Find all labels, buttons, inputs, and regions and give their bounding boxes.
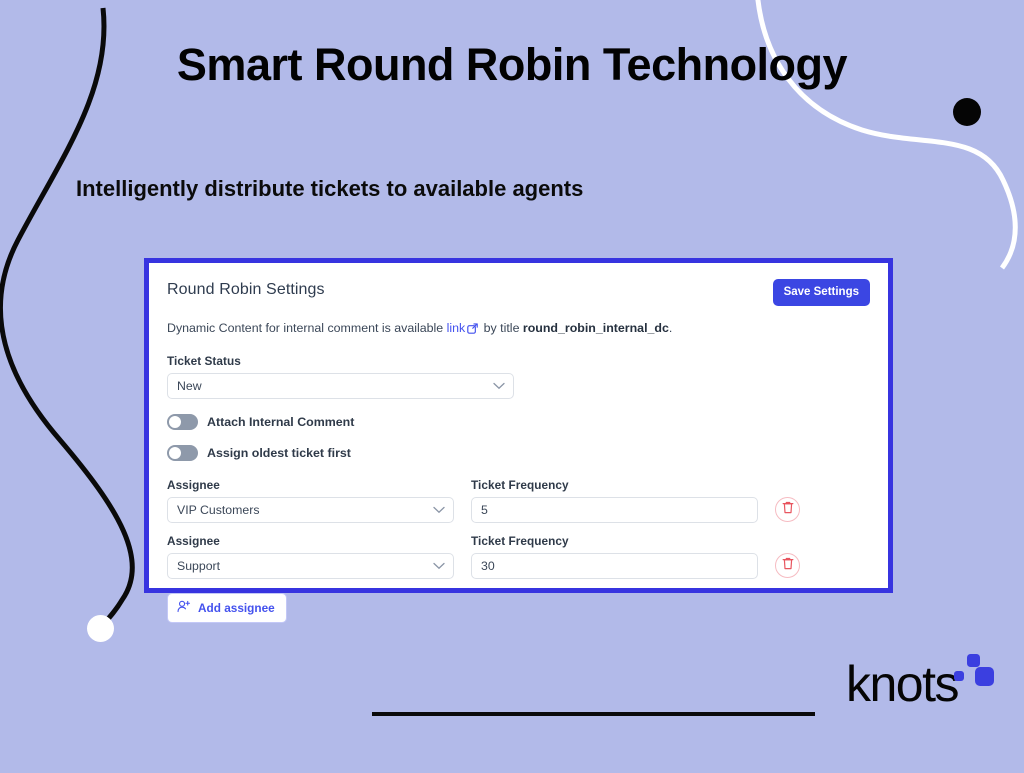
page-subtitle: Intelligently distribute tickets to avai… — [76, 170, 596, 207]
ticket-frequency-label: Ticket Frequency — [471, 478, 758, 492]
horizontal-rule — [372, 712, 815, 716]
page-title: Smart Round Robin Technology — [0, 32, 1024, 97]
toggle-assign-oldest-ticket-first[interactable]: Assign oldest ticket first — [167, 445, 870, 461]
dynamic-content-name: round_robin_internal_dc — [523, 321, 669, 335]
ticket-frequency-label: Ticket Frequency — [471, 534, 758, 548]
ticket-status-value: New — [177, 379, 202, 393]
assignee-label: Assignee — [167, 478, 454, 492]
logo-squares-mark — [954, 654, 996, 699]
dynamic-content-text-before: Dynamic Content for internal comment is … — [167, 321, 447, 335]
assignee-list: Assignee VIP Customers Ticket Frequency … — [167, 478, 870, 579]
dynamic-content-link[interactable]: link — [447, 321, 466, 335]
toggle-attach-internal-comment[interactable]: Attach Internal Comment — [167, 414, 870, 430]
toggle-knob — [169, 447, 181, 459]
round-robin-settings-card: Round Robin Settings Save Settings Dynam… — [144, 258, 893, 593]
toggle-knob — [169, 416, 181, 428]
ticket-frequency-value: 5 — [481, 503, 488, 517]
ticket-status-label: Ticket Status — [167, 354, 514, 368]
logo-wordmark: knots — [846, 659, 958, 709]
knots-logo: knots — [846, 655, 996, 710]
ticket-frequency-value: 30 — [481, 559, 495, 573]
card-title: Round Robin Settings — [167, 279, 325, 299]
toggle-switch-off[interactable] — [167, 414, 198, 430]
dynamic-content-text-after: . — [669, 321, 672, 335]
trash-icon — [782, 557, 794, 575]
toggle-label: Assign oldest ticket first — [207, 446, 351, 460]
delete-assignee-button[interactable] — [775, 497, 800, 522]
assignee-select[interactable]: Support — [167, 553, 454, 579]
add-assignee-label: Add assignee — [198, 601, 275, 615]
dynamic-content-text-middle: by title — [480, 321, 523, 335]
ticket-frequency-input[interactable]: 30 — [471, 553, 758, 579]
ticket-frequency-input[interactable]: 5 — [471, 497, 758, 523]
user-plus-icon — [177, 600, 191, 616]
toggle-label: Attach Internal Comment — [207, 415, 354, 429]
assignee-row: Assignee VIP Customers Ticket Frequency … — [167, 478, 870, 523]
dynamic-content-note: Dynamic Content for internal comment is … — [167, 320, 870, 338]
trash-icon — [782, 501, 794, 519]
save-settings-button[interactable]: Save Settings — [773, 279, 870, 306]
ticket-status-select[interactable]: New — [167, 373, 514, 399]
white-dot-accent — [87, 615, 114, 642]
card-header: Round Robin Settings Save Settings — [167, 279, 870, 306]
assignee-row: Assignee Support Ticket Frequency 30 — [167, 534, 870, 579]
toggle-switch-off[interactable] — [167, 445, 198, 461]
assignee-value: VIP Customers — [177, 503, 259, 517]
external-link-icon[interactable] — [467, 322, 478, 338]
ticket-status-field: Ticket Status New — [167, 354, 514, 399]
delete-assignee-button[interactable] — [775, 553, 800, 578]
black-dot-accent — [953, 98, 981, 126]
add-assignee-button[interactable]: Add assignee — [167, 593, 287, 623]
black-wave-line — [0, 8, 132, 628]
assignee-value: Support — [177, 559, 220, 573]
assignee-select[interactable]: VIP Customers — [167, 497, 454, 523]
assignee-label: Assignee — [167, 534, 454, 548]
